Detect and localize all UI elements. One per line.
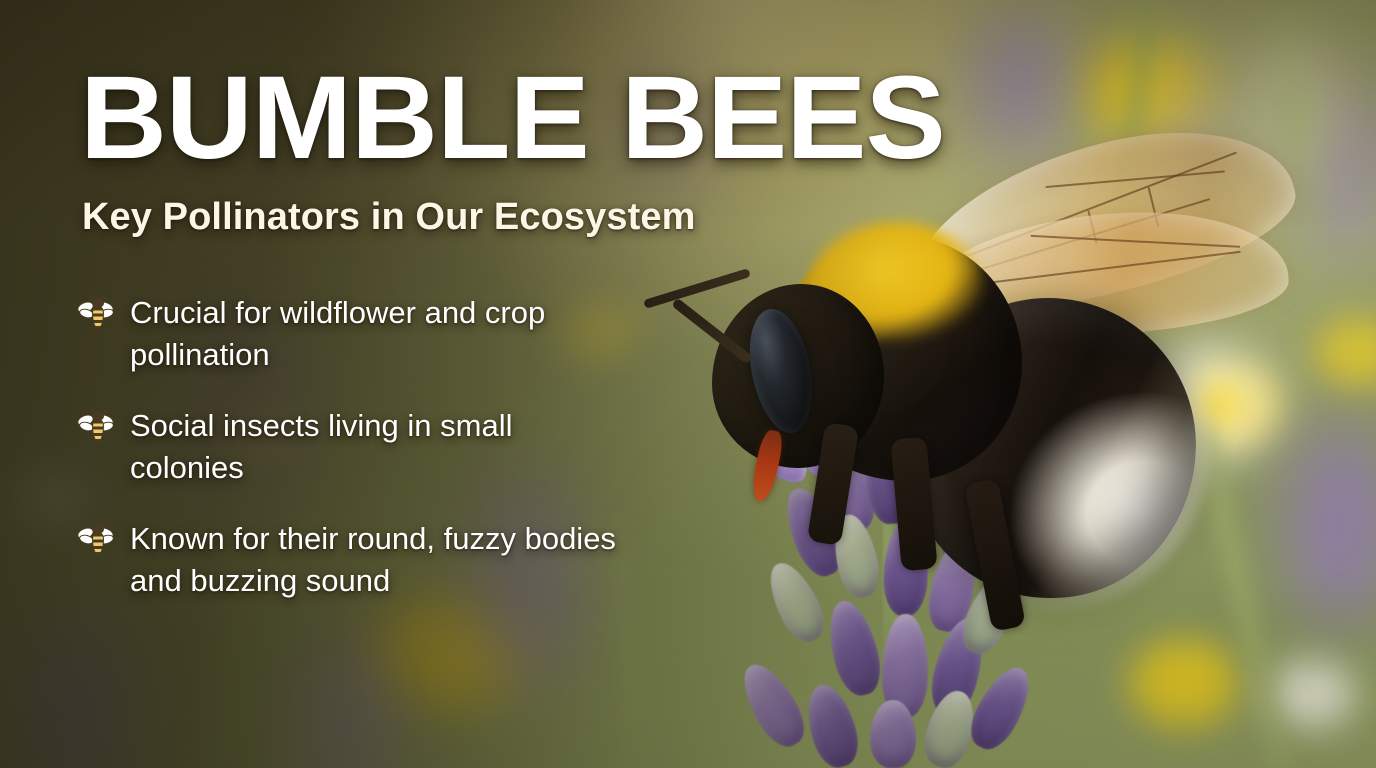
list-item: Social insects living in small colonies — [78, 405, 638, 488]
list-item: Crucial for wildflower and crop pollinat… — [78, 292, 638, 375]
list-item-label: Social insects living in small colonies — [130, 405, 630, 488]
poster-canvas: BUMBLE BEES Key Pollinators in Our Ecosy… — [0, 0, 1376, 768]
bee-icon — [78, 297, 118, 331]
list-item: Known for their round, fuzzy bodies and … — [78, 518, 638, 601]
page-subtitle: Key Pollinators in Our Ecosystem — [82, 196, 696, 239]
bee-icon — [78, 410, 118, 444]
fact-list: Crucial for wildflower and crop pollinat… — [78, 292, 638, 631]
poster-content: BUMBLE BEES Key Pollinators in Our Ecosy… — [0, 0, 1376, 768]
bee-icon — [78, 523, 118, 557]
page-title: BUMBLE BEES — [80, 62, 945, 175]
list-item-label: Crucial for wildflower and crop pollinat… — [130, 292, 630, 375]
list-item-label: Known for their round, fuzzy bodies and … — [130, 518, 630, 601]
